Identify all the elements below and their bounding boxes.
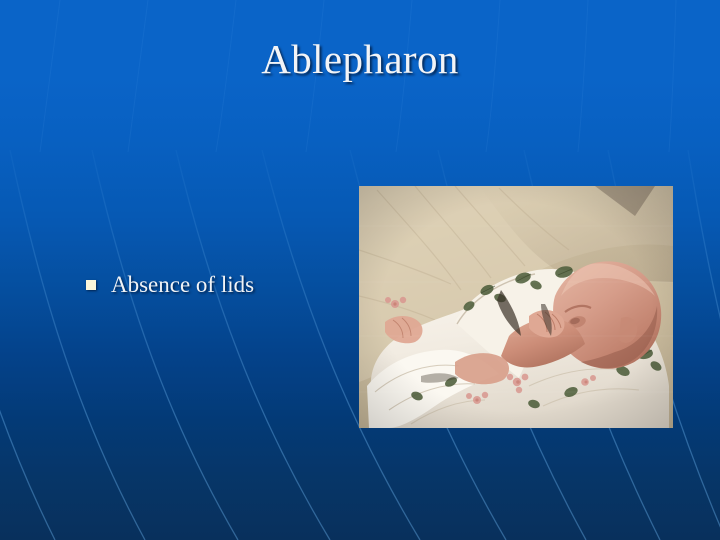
list-item: Absence of lids <box>86 272 336 298</box>
list-item-label: Absence of lids <box>111 272 254 298</box>
slide-body-list: Absence of lids <box>86 272 336 298</box>
newborn-infant-photo-illustration <box>359 186 673 428</box>
square-bullet-icon <box>86 280 96 290</box>
slide-image-newborn-infant-photo <box>359 186 673 428</box>
presentation-slide: Ablepharon Absence of lids <box>0 0 720 540</box>
slide-title: Ablepharon <box>0 38 720 81</box>
